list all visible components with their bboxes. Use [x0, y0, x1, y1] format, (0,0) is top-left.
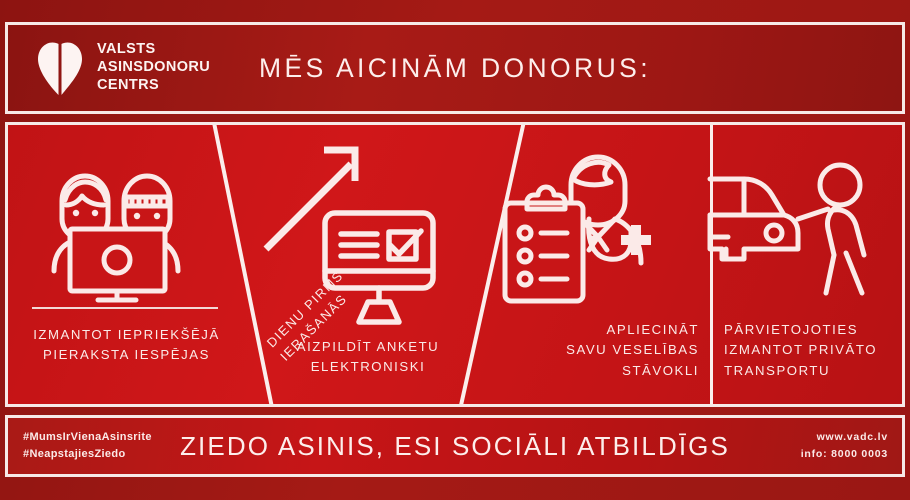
- page-title: MĒS AICINĀM DONORUS:: [8, 53, 902, 84]
- contact-group: www.vadc.lv info: 8000 0003: [801, 429, 888, 464]
- phone-info: info: 8000 0003: [801, 446, 888, 463]
- two-people-at-computer-icon: [40, 153, 200, 303]
- panel-caption-1: IZMANTOT IEPRIEKŠĒJĀ PIERAKSTA IESPĒJAS: [24, 325, 229, 366]
- footer-slogan: ZIEDO ASINIS, ESI SOCIĀLI ATBILDĪGS: [8, 431, 902, 462]
- panel-health-declaration[interactable]: APLIECINĀT SAVU VESELĪBAS STĀVOKLI: [489, 125, 710, 404]
- panel-private-transport[interactable]: PĀRVIETOJOTIES IZMANTOT PRIVĀTO TRANSPOR…: [710, 125, 902, 404]
- caption-rule: [32, 307, 218, 309]
- panel-caption-3: APLIECINĀT SAVU VESELĪBAS STĀVOKLI: [493, 320, 707, 381]
- website-link[interactable]: www.vadc.lv: [801, 429, 888, 446]
- footer-bar: #MumsIrVienaAsinsrite #NeapstajiesZiedo …: [5, 415, 905, 477]
- panels-container: IZMANTOT IEPRIEKŠĒJĀ PIERAKSTA IESPĒJAS: [5, 122, 905, 407]
- panel-online-form[interactable]: AIZPILDĪT ANKETU ELEKTRONISKI: [242, 125, 489, 404]
- header-bar: VALSTS ASINSDONORU CENTRS MĒS AICINĀM DO…: [5, 22, 905, 114]
- doctor-with-clipboard-icon: [497, 145, 687, 310]
- panel-prior-registration[interactable]: IZMANTOT IEPRIEKŠĒJĀ PIERAKSTA IESPĒJAS: [8, 125, 242, 404]
- panel-caption-4: PĀRVIETOJOTIES IZMANTOT PRIVĀTO TRANSPOR…: [724, 320, 904, 381]
- poster-root: VALSTS ASINSDONORU CENTRS MĒS AICINĀM DO…: [0, 0, 910, 500]
- person-entering-car-icon: [716, 149, 891, 299]
